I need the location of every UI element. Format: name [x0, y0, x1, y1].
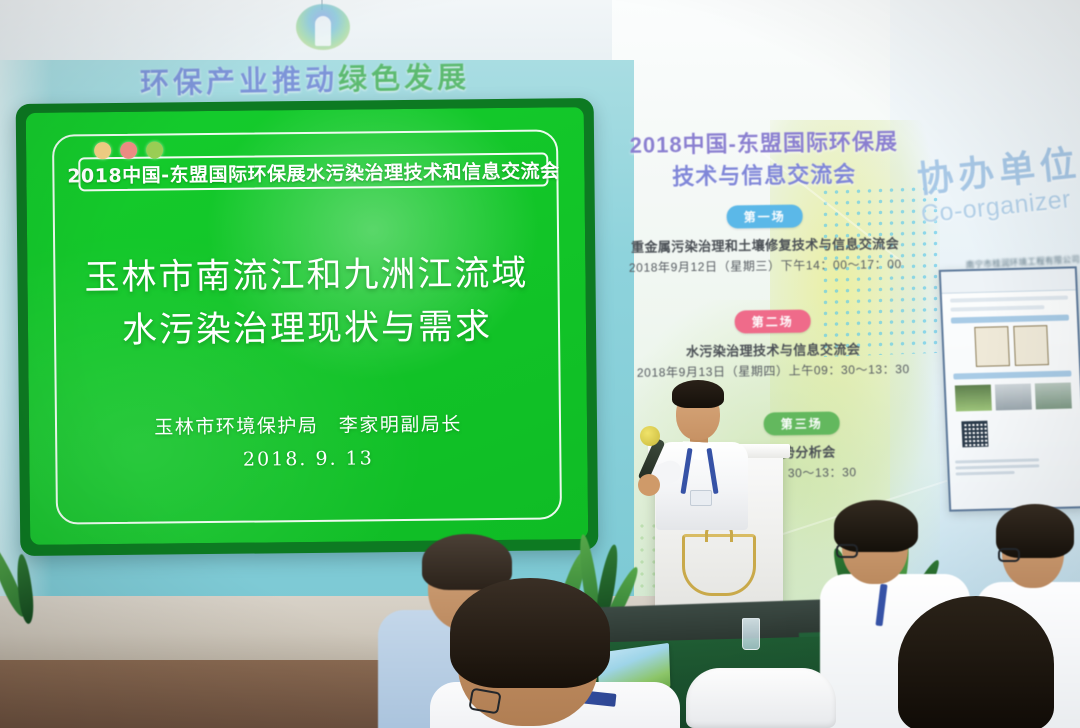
contact-line — [955, 464, 1039, 469]
slide-decor-dots — [94, 141, 163, 159]
board-section-bar — [953, 370, 1071, 379]
board-photo — [1035, 382, 1072, 409]
attendee-hair — [898, 596, 1054, 728]
board-photos — [951, 382, 1076, 411]
speaker-hair — [672, 380, 724, 408]
slide-presenter-block: 玉林市环境保护局 李家明副局长 2018. 9. 13 — [29, 407, 588, 479]
poster-title-line2: 技术与信息交流会 — [624, 158, 904, 194]
chair-back — [686, 668, 836, 728]
venue-banner-headline: 环保产业推动绿色发展 — [140, 54, 471, 102]
speaker-hand — [638, 474, 660, 496]
board-text-row — [950, 305, 1044, 311]
contact-line — [955, 458, 1039, 463]
speaker-badge — [690, 490, 712, 506]
session-3-badge: 第三场 — [764, 411, 840, 435]
slide-date: 2018. 9. 13 — [29, 440, 587, 479]
yellow-dot-icon — [94, 142, 111, 159]
poster-session-2: 第二场 水污染治理技术与信息交流会 2018年9月13日（星期四）上午09：30… — [623, 308, 924, 381]
water-glass — [742, 618, 760, 650]
poster-session-1: 第一场 重金属污染治理和土壤修复技术与信息交流会 2018年9月12日（星期三）… — [615, 203, 916, 276]
banner-headline-green: 绿色发展 — [338, 62, 471, 97]
green-dot-icon — [146, 141, 163, 158]
podium-gold-ornament — [682, 534, 756, 596]
board-header — [941, 268, 1076, 293]
board-photo — [995, 384, 1032, 411]
slide-title-line2: 水污染治理现状与需求 — [28, 300, 587, 358]
slide-main-title: 玉林市南流江和九洲江流域 水污染治理现状与需求 — [27, 247, 586, 358]
company-display-board — [939, 266, 1080, 511]
slide-ribbon-title: 2018中国-东盟国际环保展水污染治理技术和信息交流会 — [67, 156, 560, 188]
slide-title-line1: 玉林市南流江和九洲江流域 — [27, 247, 586, 305]
board-text-row — [950, 296, 1068, 303]
attendee-front-center — [430, 582, 690, 728]
attendee-hair — [450, 578, 610, 688]
red-dot-icon — [120, 142, 137, 159]
certificate-image — [1013, 325, 1049, 366]
session-2-title: 水污染治理技术与信息交流会 — [623, 338, 923, 361]
conference-photo-scene: 环保产业推动绿色发展 2018中国-东盟国际环保展 技术与信息交流会 第一场 重… — [0, 0, 1080, 728]
certificate-image — [974, 326, 1010, 367]
projection-screen[interactable]: 2018中国-东盟国际环保展水污染治理技术和信息交流会 玉林市南流江和九洲江流域… — [16, 98, 599, 556]
board-photo — [955, 385, 992, 412]
decorative-plant-far-left — [0, 520, 70, 630]
session-1-badge: 第一场 — [727, 204, 803, 228]
poster-title: 2018中国-东盟国际环保展 技术与信息交流会 — [624, 126, 905, 194]
board-contact-info — [955, 449, 1040, 478]
microphone-windscreen-icon — [640, 426, 660, 446]
board-certificates — [949, 324, 1073, 367]
attendee-glasses-icon — [998, 548, 1020, 562]
event-logo-icon — [296, 4, 350, 50]
speaker-presenter — [640, 378, 760, 528]
poster-title-line1: 2018中国-东盟国际环保展 — [629, 129, 898, 158]
banner-headline-blue: 环保产业推动 — [140, 64, 339, 100]
attendee-glasses-icon — [836, 544, 858, 558]
attendee-right-foreground — [898, 596, 1058, 728]
slide-background: 2018中国-东盟国际环保展水污染治理技术和信息交流会 玉林市南流江和九洲江流域… — [26, 107, 588, 545]
session-1-title: 重金属污染治理和土壤修复技术与信息交流会 — [615, 233, 915, 256]
board-section-bar — [951, 315, 1069, 324]
contact-line — [956, 471, 1015, 476]
board-qr-code-icon — [961, 421, 988, 448]
session-2-badge: 第二场 — [735, 309, 811, 333]
